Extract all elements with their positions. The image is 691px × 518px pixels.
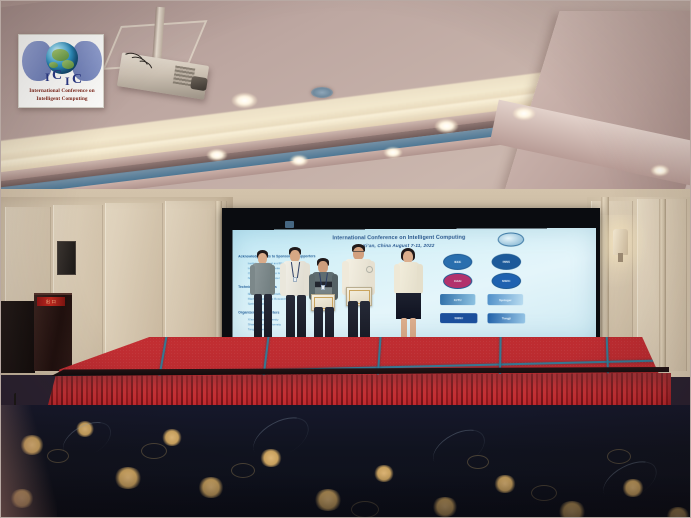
slide-title: International Conference on Intelligent … <box>283 234 517 242</box>
ballroom-carpet <box>1 405 691 518</box>
nsfc-logo-icon: NSFC <box>492 273 522 289</box>
arm <box>417 264 423 294</box>
caai-logo-icon: CAAI <box>443 273 472 289</box>
screen-bezel-logo-icon <box>285 221 294 228</box>
downlight <box>435 119 458 133</box>
arm <box>250 265 255 295</box>
logo-letter-i: I <box>45 70 50 85</box>
carpet-motif <box>161 429 183 446</box>
logo-text-line-2: Intelligent Computing <box>22 96 102 102</box>
ceiling <box>1 1 691 216</box>
arm <box>394 264 400 294</box>
carpet-shadow <box>1 473 691 518</box>
arm <box>280 263 286 296</box>
wall-sconce-light <box>613 229 628 255</box>
downlight <box>384 147 402 158</box>
tongji-logo-icon: Tongji <box>488 313 526 323</box>
slide-section-heading: Acknowledgements to Sponsors & Supporter… <box>238 254 315 258</box>
snnu-logo-icon: SNNU <box>440 313 477 323</box>
sconce-bracket <box>618 253 623 262</box>
carpet-light-falloff <box>1 405 57 518</box>
conference-emblem-icon <box>498 232 524 246</box>
name-badge <box>321 285 325 290</box>
logo-letter-i2: I <box>65 74 70 89</box>
eyeglasses-icon <box>353 251 364 254</box>
xjtu-logo-icon: XJTU <box>440 294 475 305</box>
downlight <box>232 93 257 108</box>
downlight <box>651 165 669 176</box>
side-cabinet <box>1 301 35 373</box>
skirt <box>396 293 421 319</box>
wall-speaker <box>57 241 76 275</box>
conference-photo: 出 口 International Conference on Intellig… <box>0 0 691 518</box>
globe-landmass <box>62 60 74 69</box>
logo-letter-c2: C <box>72 72 82 88</box>
icic-conference-logo: I C I C International Conference on Inte… <box>18 34 104 108</box>
inns-logo-icon: INNS <box>492 254 522 270</box>
logo-text-line-1: International Conference on <box>22 88 102 94</box>
logo-letter-c: C <box>52 68 62 84</box>
carpet-scroll <box>607 449 631 464</box>
projector-lens <box>190 76 208 91</box>
ieee-logo-icon: IEEE <box>443 254 472 270</box>
wall-pillar <box>215 201 222 357</box>
slide-subtitle: Xi'an, China August 7-11, 2022 <box>283 243 517 249</box>
wall-pillar <box>659 199 666 371</box>
downlight <box>290 155 308 166</box>
shirt-emblem <box>366 266 373 273</box>
ceiling-vent <box>311 87 333 98</box>
downlight <box>207 149 227 161</box>
arm <box>270 265 275 295</box>
name-badge <box>293 277 297 282</box>
carpet-scroll <box>141 443 167 459</box>
exit-sign: 出 口 <box>37 297 65 306</box>
downlight <box>513 107 535 120</box>
springer-logo-icon: Springer <box>488 294 524 305</box>
